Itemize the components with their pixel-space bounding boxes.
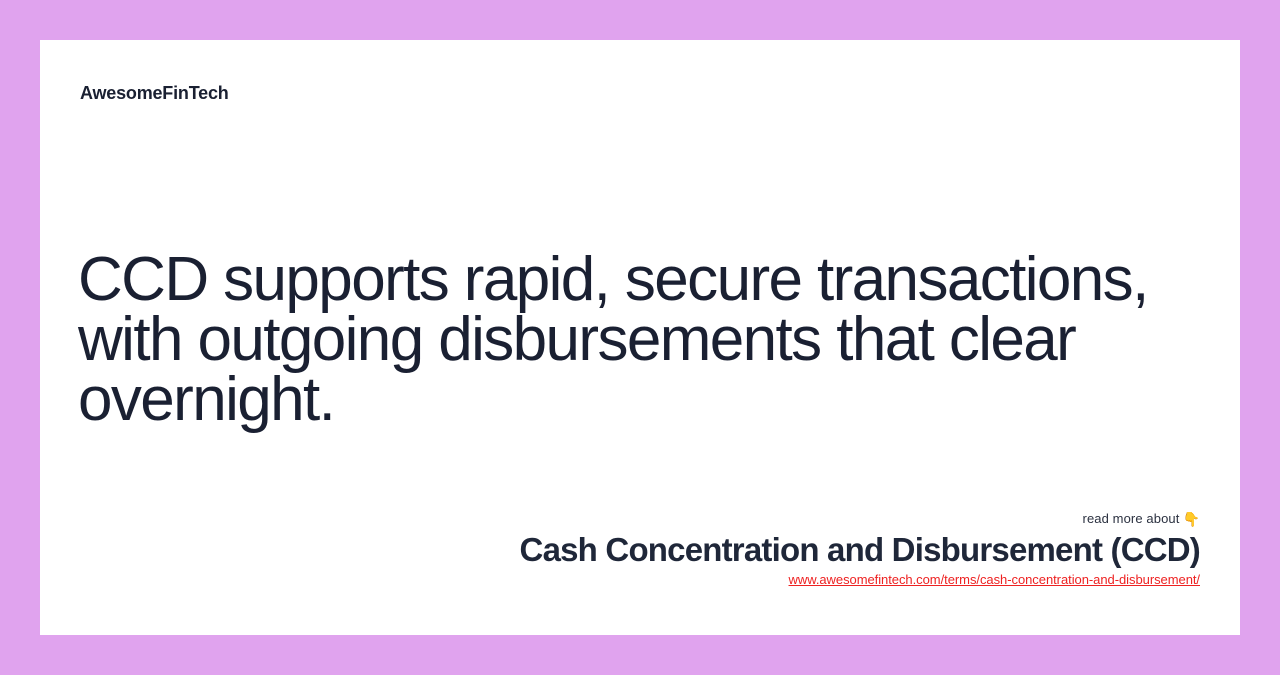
footer-block: read more about👇 Cash Concentration and … <box>40 510 1200 589</box>
pointing-down-hand-icon: 👇 <box>1182 511 1200 527</box>
brand-logo: AwesomeFinTech <box>80 83 229 104</box>
read-more-label: read more about <box>1083 511 1180 526</box>
quote-card: AwesomeFinTech CCD supports rapid, secur… <box>40 40 1240 635</box>
headline-quote: CCD supports rapid, secure transactions,… <box>78 250 1203 430</box>
term-title: Cash Concentration and Disbursement (CCD… <box>40 530 1200 570</box>
term-url-link[interactable]: www.awesomefintech.com/terms/cash-concen… <box>789 571 1200 588</box>
page-background: AwesomeFinTech CCD supports rapid, secur… <box>0 0 1280 675</box>
read-more-row: read more about👇 <box>40 510 1200 528</box>
